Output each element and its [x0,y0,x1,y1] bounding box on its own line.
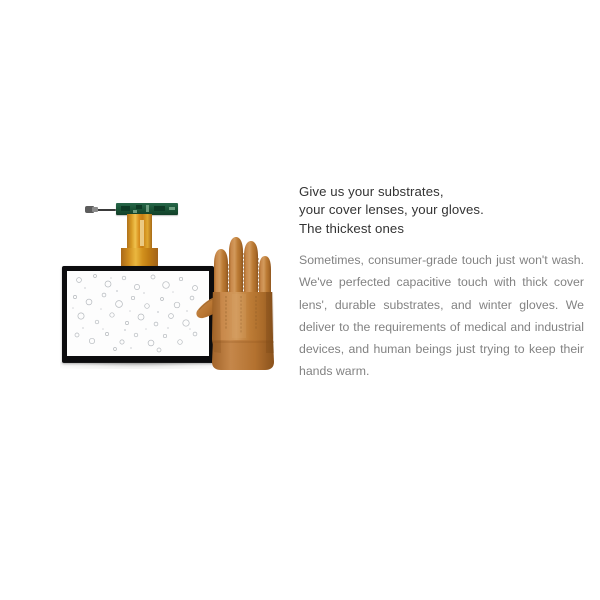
winter-glove [196,234,278,372]
connector-tip-highlight [92,207,98,212]
pcb-pad [133,210,137,213]
fpc-ribbon-slot [140,220,144,246]
panel-reflection-shadow [60,362,218,369]
headline-line-3: The thickest ones [299,220,584,238]
pcb-pad [169,207,175,210]
pcb-chip [154,206,165,211]
glove-shadow-right [266,292,274,353]
glove-icon [196,234,278,372]
glove-finger-middle [229,237,243,294]
glove-shadow-left [212,292,221,353]
glove-finger-pinky [259,256,271,296]
pcb-chip [136,205,142,209]
panel-glass [67,271,209,356]
touch-panel [62,266,214,363]
water-droplets-icon [67,271,209,356]
glove-finger-ring [244,241,258,294]
page-root: Give us your substrates, your cover lens… [0,0,600,600]
glove-cuff [212,340,274,370]
headline-line-1: Give us your substrates, [299,183,584,201]
headline: Give us your substrates, your cover lens… [299,183,584,238]
body-paragraph: Sometimes, consumer-grade touch just won… [299,249,584,382]
product-figure [48,190,278,385]
pcb-pad [146,205,149,212]
glove-finger-index [214,249,228,296]
pcb-chip [121,206,130,211]
pcb-connector-lead [85,206,116,213]
headline-line-2: your cover lenses, your gloves. [299,201,584,219]
copy-block: Give us your substrates, your cover lens… [299,183,584,382]
glove-highlight [232,294,246,338]
